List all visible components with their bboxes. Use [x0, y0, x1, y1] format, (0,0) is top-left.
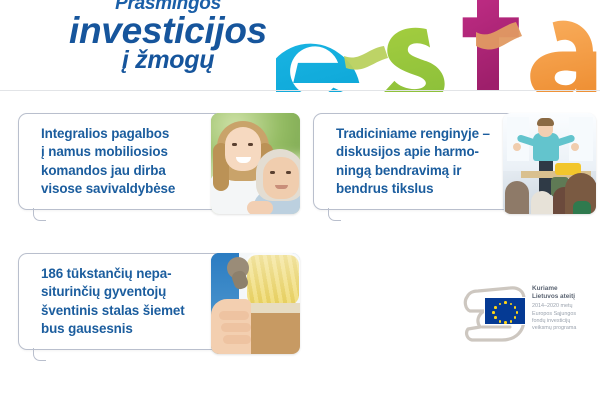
card-text-line: bus gausesnis — [41, 320, 185, 339]
eu-caption-body-line-3: fondų investicijų — [532, 318, 598, 325]
hand-holding-food-box-photo — [211, 253, 300, 354]
logo-letter-a — [530, 21, 596, 92]
speech-bubble: Tradiciniame renginyje – diskusijos apie… — [313, 113, 518, 210]
card-text-line: komandos jau dirba — [41, 162, 175, 181]
esta-logo — [276, 0, 600, 92]
eu-caption-heading-line-1: Kuriame — [532, 285, 598, 293]
slogan-block: Prasmingos investicijos į žmogų — [28, 0, 308, 74]
card-text-line: Tradiciniame renginyje – — [336, 125, 490, 144]
speech-bubble: Integralios pagalbos į namus mobiliosios… — [18, 113, 224, 210]
slogan-line-2: investicijos — [28, 12, 308, 50]
european-union-flag — [484, 297, 526, 325]
card-text: Tradiciniame renginyje – diskusijos apie… — [314, 125, 502, 199]
esta-logo-graphic — [276, 0, 600, 92]
card-text-line: bendrus tikslus — [336, 180, 490, 199]
card-text-line: ningą bendravimą ir — [336, 162, 490, 181]
bubble-tail — [33, 348, 46, 362]
logo-letter-s — [381, 28, 445, 92]
card-text-line: diskusijos apie harmo- — [336, 143, 490, 162]
card-text: 186 tūkstančių nepa- siturinčių gyventoj… — [19, 265, 197, 339]
header-divider — [0, 90, 600, 91]
card-text-line: šventinis stalas šiemet — [41, 302, 185, 321]
eu-caption-heading-line-2: Lietuvos ateitį — [532, 293, 598, 301]
slogan-line-3: į žmogų — [28, 47, 308, 74]
header-band: Prasmingos investicijos į žmogų — [0, 0, 600, 92]
poster-canvas: Prasmingos investicijos į žmogų — [0, 0, 600, 405]
speech-bubble: 186 tūkstančių nepa- siturinčių gyventoj… — [18, 253, 224, 350]
card-text-line: Integralios pagalbos — [41, 125, 175, 144]
eu-caption-body-line-1: 2014–2020 metų — [532, 303, 598, 310]
eu-funds-logo: Kuriame Lietuvos ateitį 2014–2020 metų E… — [462, 283, 596, 345]
card-text: Integralios pagalbos į namus mobiliosios… — [19, 125, 187, 199]
card-text-line: 186 tūkstančių nepa- — [41, 265, 185, 284]
eu-caption-body-line-2: Europos Sąjungos — [532, 311, 598, 318]
bubble-tail — [33, 208, 46, 222]
card-text-line: siturinčių gyventojų — [41, 283, 185, 302]
card-text-line: visose savivaldybėse — [41, 180, 175, 199]
bubble-tail — [328, 208, 341, 222]
logo-ribbon-green — [344, 46, 388, 70]
caregiver-and-elderly-woman-photo — [211, 113, 300, 214]
conference-presenter-photo — [503, 113, 596, 214]
card-sventinis-stalas[interactable]: 186 tūkstančių nepa- siturinčių gyventoj… — [18, 253, 300, 354]
eu-caption-body-line-4: veiksmų programa — [532, 325, 598, 332]
card-text-line: į namus mobiliosios — [41, 143, 175, 162]
eu-funds-caption: Kuriame Lietuvos ateitį 2014–2020 metų E… — [532, 285, 598, 333]
card-tradicinis-renginys[interactable]: Tradiciniame renginyje – diskusijos apie… — [313, 113, 596, 214]
card-integrali-pagalba[interactable]: Integralios pagalbos į namus mobiliosios… — [18, 113, 300, 214]
